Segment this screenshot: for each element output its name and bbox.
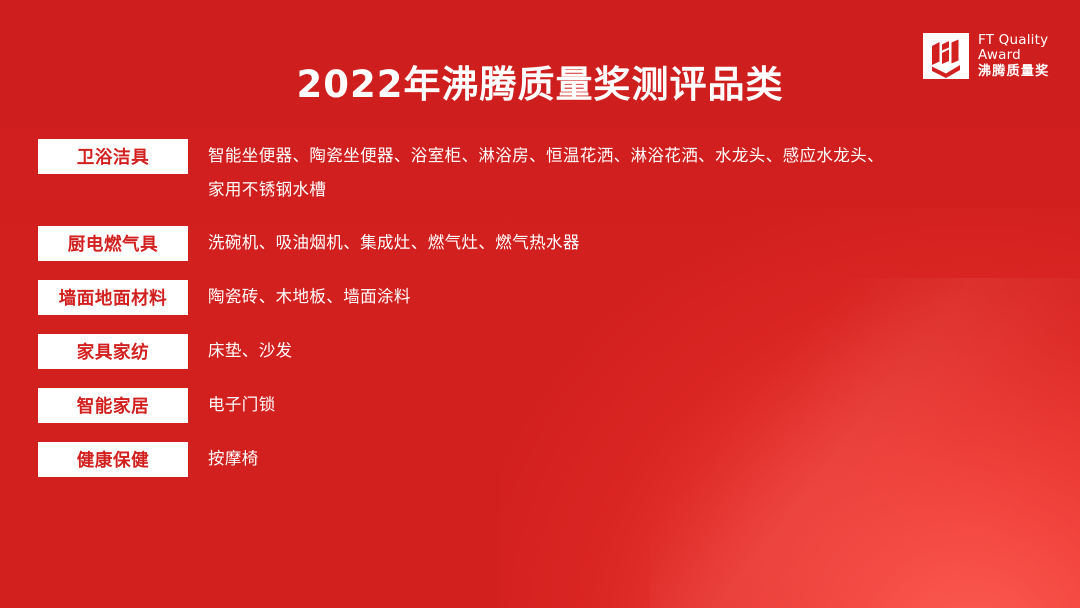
category-label-badge: 卫浴洁具: [38, 139, 188, 174]
category-row: 智能家居 电子门锁: [38, 388, 1048, 423]
category-items: 陶瓷砖、木地板、墙面涂料: [208, 280, 1048, 314]
slide-canvas: FT Quality Award 沸腾质量奖 2022年沸腾质量奖测评品类 卫浴…: [0, 0, 1080, 608]
category-label-badge: 厨电燃气具: [38, 226, 188, 261]
category-items-line: 床垫、沙发: [208, 334, 1048, 368]
category-row: 墙面地面材料 陶瓷砖、木地板、墙面涂料: [38, 280, 1048, 315]
category-row: 厨电燃气具 洗碗机、吸油烟机、集成灶、燃气灶、燃气热水器: [38, 226, 1048, 261]
category-items-line: 洗碗机、吸油烟机、集成灶、燃气灶、燃气热水器: [208, 226, 1048, 260]
category-row: 卫浴洁具 智能坐便器、陶瓷坐便器、浴室柜、淋浴房、恒温花洒、淋浴花洒、水龙头、感…: [38, 139, 1048, 207]
category-items-line: 陶瓷砖、木地板、墙面涂料: [208, 280, 1048, 314]
category-row: 家具家纺 床垫、沙发: [38, 334, 1048, 369]
category-items-line: 家用不锈钢水槽: [208, 173, 1048, 207]
category-row: 健康保健 按摩椅: [38, 442, 1048, 477]
page-title: 2022年沸腾质量奖测评品类: [0, 54, 1080, 108]
category-label-badge: 墙面地面材料: [38, 280, 188, 315]
category-items-line: 电子门锁: [208, 388, 1048, 422]
category-items: 洗碗机、吸油烟机、集成灶、燃气灶、燃气热水器: [208, 226, 1048, 260]
category-label-badge: 健康保健: [38, 442, 188, 477]
category-items: 电子门锁: [208, 388, 1048, 422]
category-items-line: 按摩椅: [208, 442, 1048, 476]
category-list: 卫浴洁具 智能坐便器、陶瓷坐便器、浴室柜、淋浴房、恒温花洒、淋浴花洒、水龙头、感…: [38, 139, 1048, 496]
brand-name-en-line1: FT Quality: [978, 33, 1050, 48]
category-items: 床垫、沙发: [208, 334, 1048, 368]
category-label-badge: 智能家居: [38, 388, 188, 423]
category-items-line: 智能坐便器、陶瓷坐便器、浴室柜、淋浴房、恒温花洒、淋浴花洒、水龙头、感应水龙头、: [208, 139, 1048, 173]
category-items: 智能坐便器、陶瓷坐便器、浴室柜、淋浴房、恒温花洒、淋浴花洒、水龙头、感应水龙头、…: [208, 139, 1048, 207]
category-label-badge: 家具家纺: [38, 334, 188, 369]
category-items: 按摩椅: [208, 442, 1048, 476]
